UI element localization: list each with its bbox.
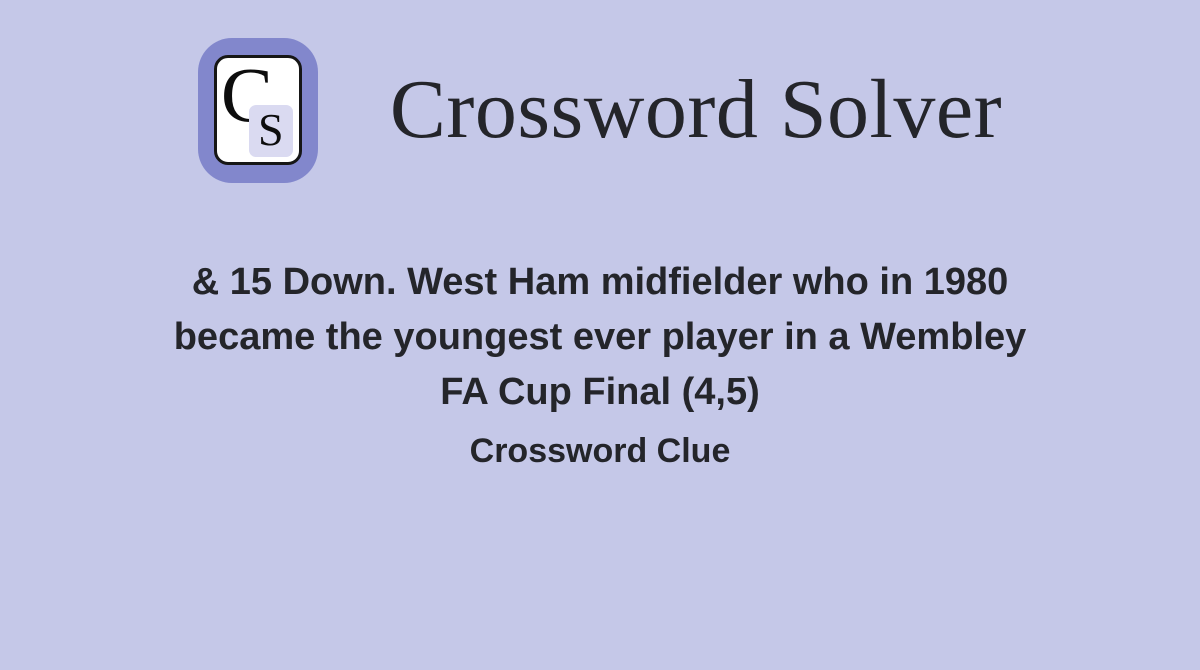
logo-tile: C S xyxy=(214,55,302,165)
page-subtitle: Crossword Clue xyxy=(40,425,1160,477)
clue-block: & 15 Down. West Ham midfielder who in 19… xyxy=(0,255,1200,477)
clue-line: & 15 Down. West Ham midfielder who in 19… xyxy=(40,255,1160,310)
crossword-clue-page: C S Crossword Solver & 15 Down. West Ham… xyxy=(0,0,1200,670)
logo-letter-s: S xyxy=(249,106,293,154)
clue-line: FA Cup Final (4,5) xyxy=(40,365,1160,420)
site-title[interactable]: Crossword Solver xyxy=(390,64,1002,156)
logo-letter-s-chip: S xyxy=(249,105,293,157)
crossword-solver-logo-icon[interactable]: C S xyxy=(198,38,318,183)
site-header: C S Crossword Solver xyxy=(0,30,1200,190)
clue-line: became the youngest ever player in a Wem… xyxy=(40,310,1160,365)
